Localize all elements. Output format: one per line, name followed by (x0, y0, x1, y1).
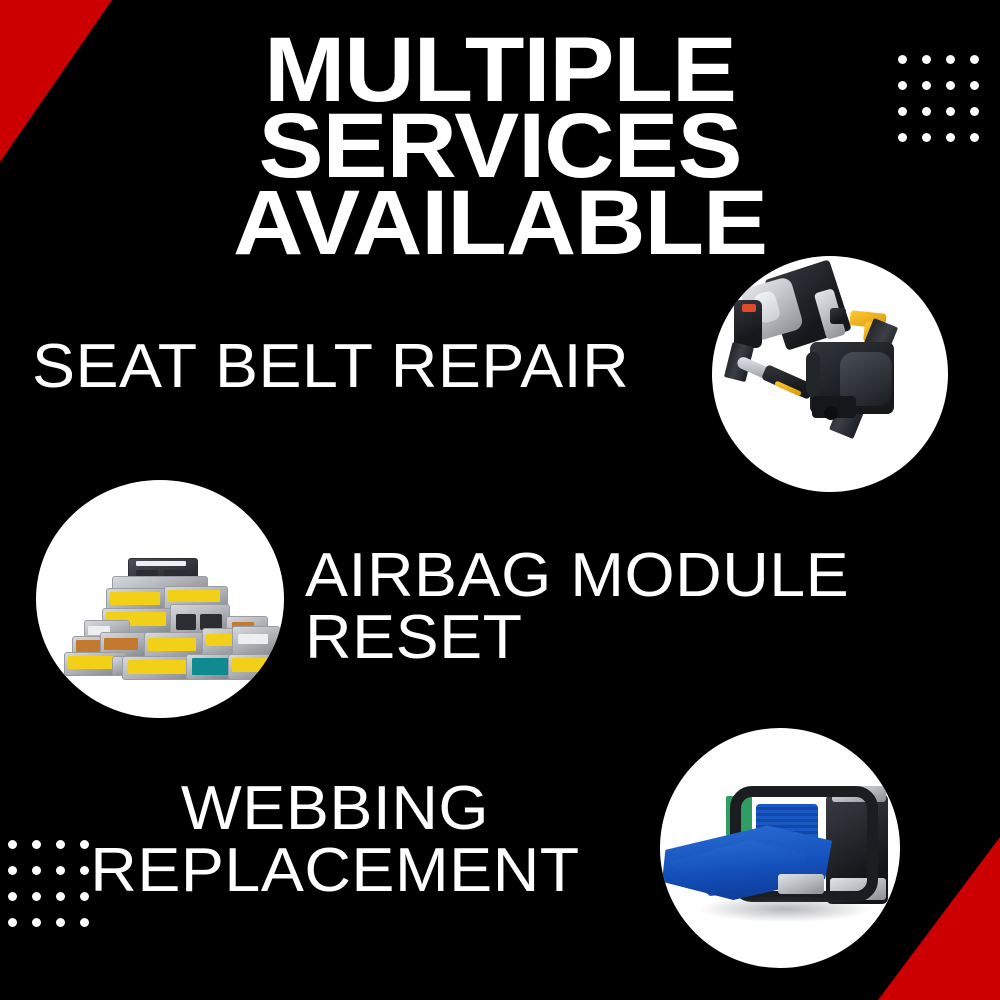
service-image-airbag-module-reset (36, 480, 284, 718)
service-label-airbag-module-reset: AIRBAG MODULE RESET (305, 545, 849, 669)
dot (80, 918, 89, 927)
dot (8, 918, 17, 927)
dot (32, 918, 41, 927)
service-label-seat-belt-repair: SEAT BELT REPAIR (32, 336, 629, 398)
service-label-webbing-replacement: WEBBING REPLACEMENT (0, 778, 683, 902)
dot (56, 918, 65, 927)
page-title: MULTIPLE SERVICES AVAILABLE (0, 32, 1000, 261)
seat-belt-photo (712, 256, 948, 492)
poster-canvas: MULTIPLE SERVICES AVAILABLE SEAT BELT RE… (0, 0, 1000, 1000)
service-image-seat-belt-repair (712, 256, 948, 492)
airbag-module-photo (36, 480, 284, 718)
service-image-webbing-replacement (660, 728, 900, 968)
page-title-line-3: AVAILABLE (0, 185, 1000, 261)
webbing-photo (660, 728, 900, 968)
